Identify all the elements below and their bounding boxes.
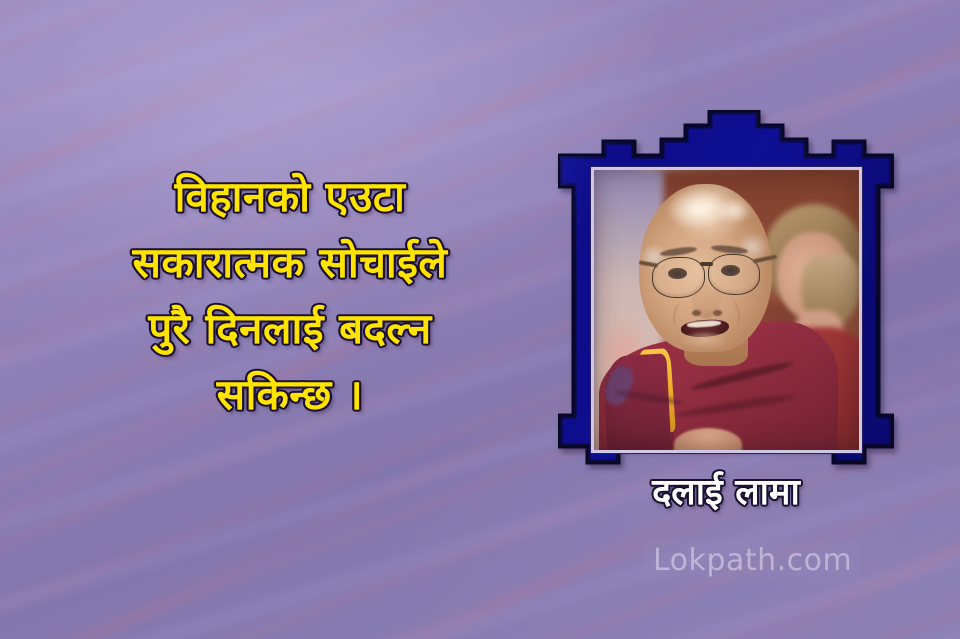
watermark: Lokpath.com: [645, 541, 860, 582]
photo-vignette: [594, 170, 859, 450]
portrait-frame: [558, 110, 894, 492]
attribution-name: दलाई लामा: [558, 466, 894, 515]
quote-line-3: पुरै दिनलाई बदल्न: [30, 308, 550, 350]
portrait-photo: [594, 170, 859, 450]
quote-line-4: सकिन्छ ।: [30, 374, 550, 416]
quote-text-block: विहानको एउटा सकारात्मक सोचाईले पुरै दिनल…: [30, 176, 550, 416]
quote-line-2: सकारात्मक सोचाईले: [30, 242, 550, 284]
quote-poster: विहानको एउटा सकारात्मक सोचाईले पुरै दिनल…: [0, 0, 960, 639]
quote-line-1: विहानको एउटा: [30, 176, 550, 218]
